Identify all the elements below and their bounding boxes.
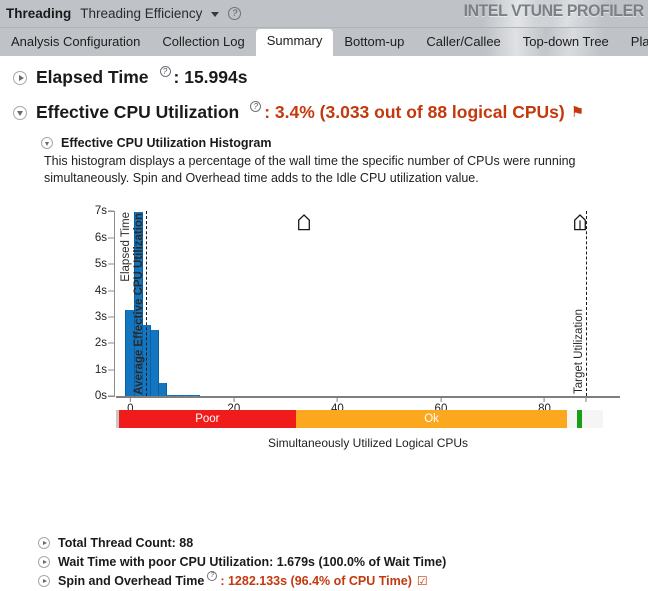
tab-top-down-tree[interactable]: Top-down Tree — [512, 30, 620, 56]
question-circle-icon-spin-overhead[interactable]: ? — [207, 571, 217, 581]
flag-icon-cpu-utilization: ⚑ — [571, 105, 584, 120]
utilization-quality-band: PoorOk — [116, 410, 620, 428]
expander-wait-time[interactable] — [38, 556, 50, 568]
ideal-utilization-marker — [577, 410, 582, 428]
question-circle-icon-elapsed-time[interactable]: ? — [160, 66, 171, 77]
elapsed-time-row: Elapsed Time ? : 15.994s — [0, 56, 648, 88]
summary-pane: Elapsed Time ? : 15.994s Effective CPU U… — [0, 56, 648, 541]
y-axis-tick-labels: 0s1s2s3s4s5s6s7s — [0, 211, 114, 397]
window-header-band: Threading Threading Efficiency ? INTEL V… — [0, 0, 648, 28]
tab-bottom-up[interactable]: Bottom-up — [333, 30, 415, 56]
band-segment-poor: Poor — [119, 410, 296, 428]
plot-area: Average Effective CPU UtilizationTarget … — [122, 211, 617, 396]
tab-platform[interactable]: Platform — [620, 30, 648, 56]
y-tick-mark — [108, 369, 114, 370]
effective-cpu-utilization-row: Effective CPU Utilization ? : 3.4% (3.03… — [0, 88, 648, 123]
chevron-down-icon[interactable] — [211, 12, 219, 17]
summary-metrics-list: Total Thread Count: 88 Wait Time with po… — [0, 534, 648, 591]
metric-wait-time-poor-cpu-utilization: Wait Time with poor CPU Utilization: 1.6… — [0, 553, 648, 572]
spin-overhead-time-value: : 1282.133s (96.4% of CPU Time) — [220, 574, 412, 588]
expander-effective-cpu-utilization[interactable] — [13, 106, 27, 120]
target-utilization-line — [586, 211, 587, 396]
tab-summary[interactable]: Summary — [256, 29, 334, 56]
band-segment-ideal — [567, 410, 602, 428]
question-circle-icon-cpu-utilization[interactable]: ? — [250, 101, 261, 112]
y-tick-mark — [108, 264, 114, 265]
y-tick-mark — [108, 316, 114, 317]
band-segment-ok: Ok — [296, 410, 568, 428]
band-threshold-handle-ok-ideal[interactable] — [573, 214, 587, 231]
histogram-title: Effective CPU Utilization Histogram — [61, 136, 271, 150]
cpu-utilization-histogram-chart: 0s1s2s3s4s5s6s7s Elapsed Time Average Ef… — [0, 198, 648, 488]
intel-vtune-profiler-logo: INTEL VTUNE PROFILER — [464, 1, 644, 21]
y-tick-mark — [108, 237, 114, 238]
question-circle-icon[interactable]: ? — [228, 7, 241, 20]
band-threshold-handle-poor-ok[interactable] — [297, 214, 311, 231]
metric-spin-and-overhead-time: Spin and Overhead Time ? : 1282.133s (96… — [0, 572, 648, 591]
effective-cpu-utilization-label: Effective CPU Utilization — [36, 102, 239, 123]
x-axis-title: Simultaneously Utilized Logical CPUs — [116, 436, 620, 450]
spin-overhead-time-label: Spin and Overhead Time — [58, 574, 204, 588]
x-tick-mark-target — [585, 397, 586, 403]
total-thread-count-label: Total Thread Count: 88 — [58, 536, 193, 550]
elapsed-time-label: Elapsed Time — [36, 67, 149, 88]
expander-total-thread-count[interactable] — [38, 537, 50, 549]
average-effective-cpu-utilization-line — [146, 211, 147, 396]
tab-caller-callee[interactable]: Caller/Callee — [415, 30, 511, 56]
histogram-section-header: Effective CPU Utilization Histogram — [0, 123, 648, 150]
tab-analysis-configuration[interactable]: Analysis Configuration — [0, 30, 151, 56]
y-tick-mark — [108, 343, 114, 344]
y-tick-mark — [108, 211, 114, 212]
metric-total-thread-count: Total Thread Count: 88 — [0, 534, 648, 553]
y-tick-mark — [108, 290, 114, 291]
effective-cpu-utilization-value: : 3.4% (3.033 out of 88 logical CPUs) — [264, 102, 565, 123]
average-effective-cpu-utilization-label: Average Effective CPU Utilization — [133, 213, 145, 395]
tab-bar: Analysis Configuration Collection Log Su… — [0, 28, 648, 56]
elapsed-time-value: : 15.994s — [174, 67, 248, 88]
target-utilization-label: Target Utilization — [573, 309, 585, 394]
expander-elapsed-time[interactable] — [13, 71, 27, 85]
wait-time-label: Wait Time with poor CPU Utilization: 1.6… — [58, 555, 446, 569]
expander-histogram[interactable] — [41, 137, 53, 149]
y-axis-line — [114, 211, 115, 397]
analysis-config-name: Threading Efficiency — [80, 6, 202, 21]
view-name-label: Threading — [6, 6, 71, 21]
tab-collection-log[interactable]: Collection Log — [151, 30, 255, 56]
flag-icon-spin-overhead: ☑ — [417, 575, 428, 587]
histogram-bar[interactable] — [190, 395, 200, 397]
y-tick-mark — [108, 396, 114, 397]
expander-spin-overhead-time[interactable] — [38, 575, 50, 587]
histogram-description: This histogram displays a percentage of … — [0, 150, 600, 186]
